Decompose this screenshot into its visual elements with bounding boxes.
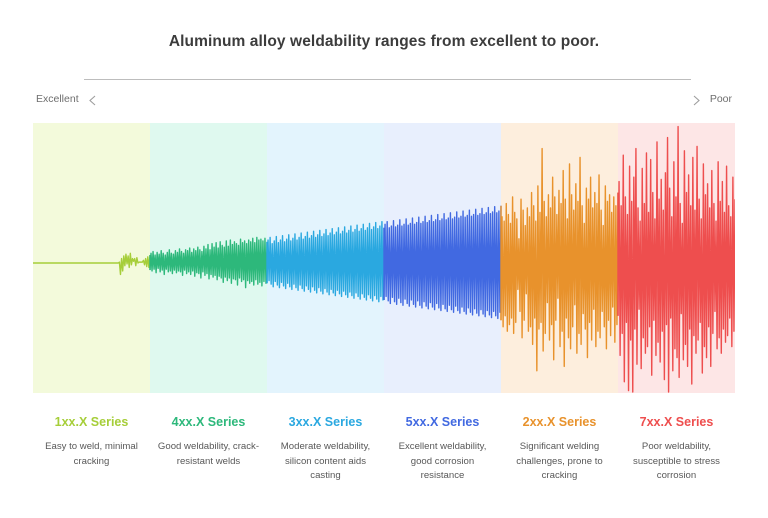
axis-left-group: Excellent bbox=[36, 93, 97, 105]
chevron-left-icon bbox=[88, 95, 97, 104]
legend-title-5xx-x-series: 5xx.X Series bbox=[390, 414, 495, 430]
header-divider bbox=[84, 79, 691, 80]
legend-description-7xx-x-series: Poor weldability, susceptible to stress … bbox=[624, 440, 729, 484]
series-legend: 1xx.X SeriesEasy to weld, minimal cracki… bbox=[33, 414, 735, 484]
legend-description-3xx-x-series: Moderate weldability, silicon content ai… bbox=[273, 440, 378, 484]
legend-title-2xx-x-series: 2xx.X Series bbox=[507, 414, 612, 430]
chevron-right-icon bbox=[692, 95, 701, 104]
axis-right-group: Poor bbox=[692, 93, 732, 105]
waveform-path-4xx-x-series bbox=[150, 237, 267, 287]
waveform-path-2xx-x-series bbox=[501, 149, 618, 371]
waveform-path-5xx-x-series bbox=[384, 206, 501, 319]
legend-description-1xx-x-series: Easy to weld, minimal cracking bbox=[39, 440, 144, 469]
legend-item-4xx-x-series[interactable]: 4xx.X SeriesGood weldability, crack-resi… bbox=[150, 414, 267, 484]
legend-title-4xx-x-series: 4xx.X Series bbox=[156, 414, 261, 430]
legend-item-3xx-x-series[interactable]: 3xx.X SeriesModerate weldability, silico… bbox=[267, 414, 384, 484]
legend-description-4xx-x-series: Good weldability, crack-resistant welds bbox=[156, 440, 261, 469]
infographic-page: Aluminum alloy weldability ranges from e… bbox=[0, 0, 768, 518]
axis-right-label: Poor bbox=[710, 93, 732, 105]
waveform-path-1xx-x-series bbox=[33, 253, 150, 274]
legend-item-2xx-x-series[interactable]: 2xx.X SeriesSignificant welding challeng… bbox=[501, 414, 618, 484]
legend-description-5xx-x-series: Excellent weldability, good corrosion re… bbox=[390, 440, 495, 484]
legend-item-1xx-x-series[interactable]: 1xx.X SeriesEasy to weld, minimal cracki… bbox=[33, 414, 150, 484]
axis-scale-row: Excellent Poor bbox=[0, 93, 768, 109]
axis-left-label: Excellent bbox=[36, 93, 79, 105]
weldability-waveform-chart bbox=[33, 123, 735, 393]
waveform-path-7xx-x-series bbox=[618, 127, 735, 392]
legend-item-7xx-x-series[interactable]: 7xx.X SeriesPoor weldability, susceptibl… bbox=[618, 414, 735, 484]
legend-title-1xx-x-series: 1xx.X Series bbox=[39, 414, 144, 430]
legend-item-5xx-x-series[interactable]: 5xx.X SeriesExcellent weldability, good … bbox=[384, 414, 501, 484]
legend-title-7xx-x-series: 7xx.X Series bbox=[624, 414, 729, 430]
page-title: Aluminum alloy weldability ranges from e… bbox=[0, 33, 768, 51]
waveform-path-3xx-x-series bbox=[267, 222, 384, 302]
legend-title-3xx-x-series: 3xx.X Series bbox=[273, 414, 378, 430]
waveform-plot bbox=[33, 123, 735, 393]
legend-description-2xx-x-series: Significant welding challenges, prone to… bbox=[507, 440, 612, 484]
